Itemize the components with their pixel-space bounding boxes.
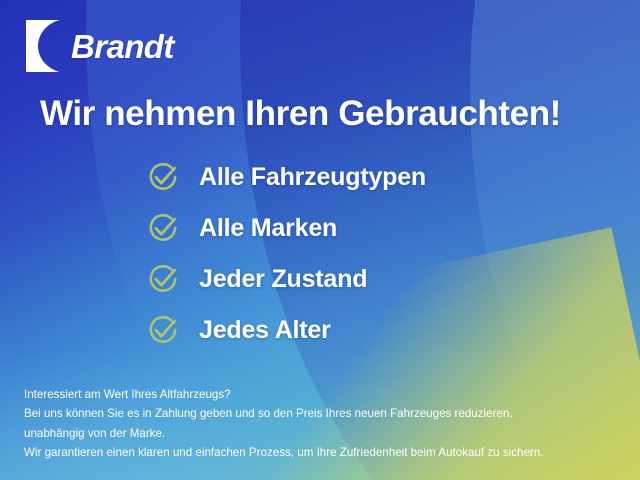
brandt-crescent-mark-icon (24, 20, 64, 72)
list-item: Jeder Zustand (144, 260, 426, 298)
benefit-label: Alle Marken (199, 216, 337, 241)
check-circle-icon (144, 209, 182, 247)
brand-name: Brandt (71, 30, 174, 63)
list-item: Alle Fahrzeugtypen (144, 158, 426, 196)
description-line: Bei uns können Sie es in Zahlung geben u… (24, 404, 604, 423)
description-line: Interessiert am Wert Ihres Altfahrzeugs? (24, 385, 604, 404)
benefit-label: Alle Fahrzeugtypen (199, 165, 426, 190)
benefit-label: Jeder Zustand (199, 267, 367, 292)
benefit-label: Jedes Alter (199, 318, 331, 343)
check-circle-icon (144, 260, 182, 298)
check-circle-icon (144, 311, 182, 349)
promo-banner: Brandt Wir nehmen Ihren Gebrauchten! All… (0, 0, 640, 480)
list-item: Jedes Alter (144, 311, 426, 349)
description-line: unabhängig von der Marke. (24, 424, 604, 443)
brand-logo[interactable]: Brandt (24, 20, 174, 72)
page-title: Wir nehmen Ihren Gebrauchten! (40, 96, 561, 133)
description-line: Wir garantieren einen klaren und einfach… (24, 443, 604, 462)
benefit-list: Alle Fahrzeugtypen Alle Marken Jeder Zus… (144, 158, 426, 349)
check-circle-icon (144, 158, 182, 196)
list-item: Alle Marken (144, 209, 426, 247)
description-text: Interessiert am Wert Ihres Altfahrzeugs?… (24, 385, 604, 463)
